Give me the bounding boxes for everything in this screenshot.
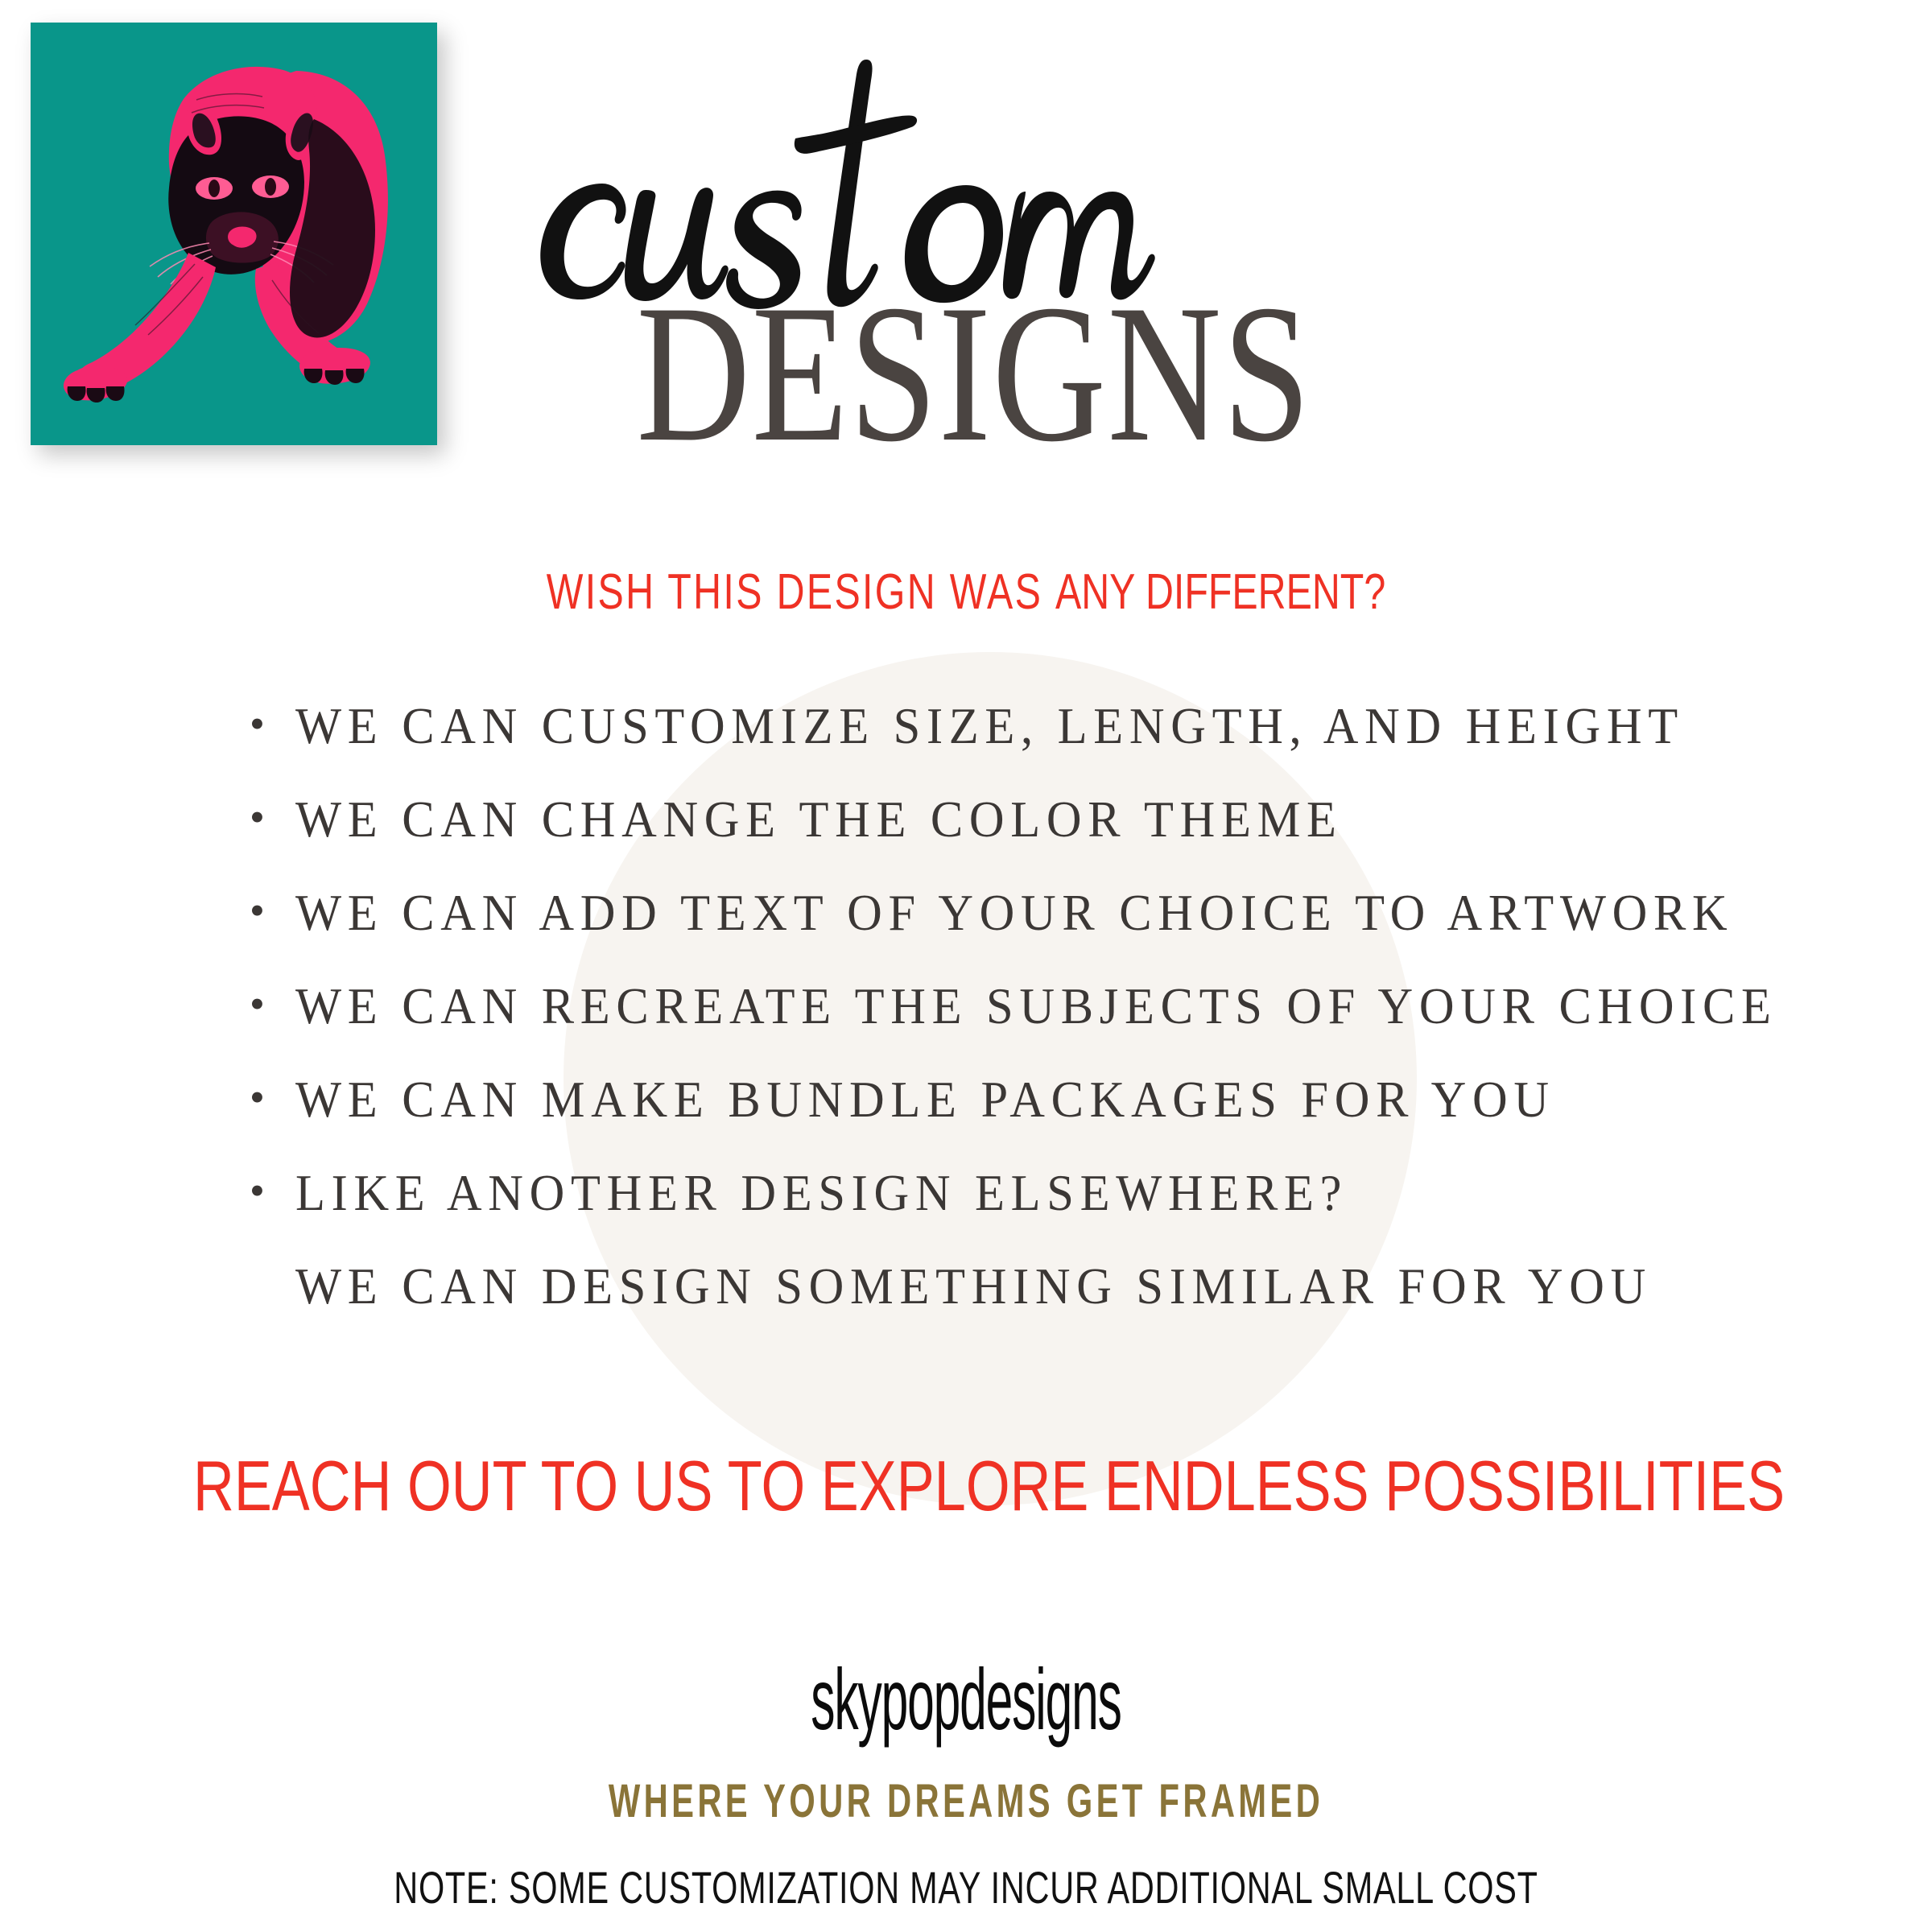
subtitle-lead: WISH THIS DESIGN WAS: [547, 564, 1042, 620]
page-title: DESIGNS: [555, 287, 1393, 460]
footer-note: NOTE: SOME CUSTOMIZATION MAY INCUR ADDIT…: [251, 1861, 1681, 1913]
list-item: •WE CAN ADD TEXT OF YOUR CHOICE TO ARTWO…: [0, 884, 1932, 977]
brand-wordmark: skypopdesigns: [425, 1649, 1507, 1749]
list-item-content: •WE CAN MAKE BUNDLE PACKAGES FOR YOU: [89, 1071, 1843, 1129]
brand-tagline: WHERE YOUR DREAMS GET FRAMED: [270, 1774, 1662, 1828]
list-item-content: •WE CAN CUSTOMIZE SIZE, LENGTH, AND HEIG…: [89, 697, 1843, 756]
list-item-content: •WE CAN RECREATE THE SUBJECTS OF YOUR CH…: [89, 977, 1843, 1036]
list-item: •WE CAN RECREATE THE SUBJECTS OF YOUR CH…: [0, 977, 1932, 1071]
list-item-content: •WE CAN DESIGN SOMETHING SIMILAR FOR YOU: [89, 1257, 1843, 1316]
bullet-dot-icon: •: [250, 1075, 265, 1119]
list-item-content: •WE CAN ADD TEXT OF YOUR CHOICE TO ARTWO…: [89, 884, 1843, 943]
list-item-label: WE CAN RECREATE THE SUBJECTS OF YOUR CHO…: [295, 977, 1777, 1036]
list-item: •WE CAN CUSTOMIZE SIZE, LENGTH, AND HEIG…: [0, 697, 1932, 791]
panther-artwork-illustration: [31, 23, 437, 445]
bullet-dot-icon: •: [250, 1169, 265, 1212]
list-item-label: LIKE ANOTHER DESIGN ELSEWHERE?: [295, 1164, 1348, 1223]
bullet-dot-icon: •: [250, 702, 265, 745]
list-item-label: WE CAN CHANGE THE COLOR THEME: [295, 791, 1343, 849]
list-item-label: WE CAN MAKE BUNDLE PACKAGES FOR YOU: [295, 1071, 1555, 1129]
bullet-dot-icon: •: [250, 889, 265, 932]
list-item-label: WE CAN DESIGN SOMETHING SIMILAR FOR YOU: [295, 1257, 1652, 1316]
list-item-label: WE CAN ADD TEXT OF YOUR CHOICE TO ARTWOR…: [295, 884, 1733, 943]
subtitle-question: WISH THIS DESIGN WAS ANY DIFFERENT?: [213, 563, 1719, 621]
list-item: •LIKE ANOTHER DESIGN ELSEWHERE?: [0, 1164, 1932, 1257]
cta-text: REACH OUT TO US TO EXPLORE ENDLESS POSSI…: [193, 1445, 1739, 1527]
list-item: •WE CAN DESIGN SOMETHING SIMILAR FOR YOU: [0, 1257, 1932, 1351]
subtitle-tail: ANY DIFFERENT?: [1055, 564, 1385, 620]
bullet-dot-icon: •: [250, 795, 265, 839]
list-item-content: •LIKE ANOTHER DESIGN ELSEWHERE?: [89, 1164, 1843, 1223]
feature-list: •WE CAN CUSTOMIZE SIZE, LENGTH, AND HEIG…: [0, 697, 1932, 1351]
header-block: DESIGNS: [451, 48, 1497, 488]
list-item: •WE CAN CHANGE THE COLOR THEME: [0, 791, 1932, 884]
list-item-content: •WE CAN CHANGE THE COLOR THEME: [89, 791, 1843, 849]
poster-canvas: DESIGNS WISH THIS DESIGN WAS ANY DIFFERE…: [0, 0, 1932, 1932]
bullet-dot-icon: •: [250, 982, 265, 1026]
list-item: •WE CAN MAKE BUNDLE PACKAGES FOR YOU: [0, 1071, 1932, 1164]
artwork-thumbnail[interactable]: [31, 23, 437, 445]
list-item-label: WE CAN CUSTOMIZE SIZE, LENGTH, AND HEIGH…: [295, 697, 1684, 756]
